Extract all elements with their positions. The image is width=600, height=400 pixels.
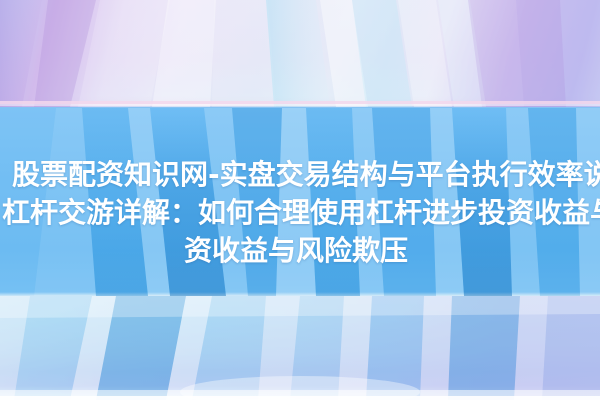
page-title: 股票配资知识网-实盘交易结构与平台执行效率说 杠杆交游详解：如何合理使用杠杆进步… <box>12 156 600 270</box>
headline-line-2: 杠杆交游详解：如何合理使用杠杆进步投资收益与风 <box>2 194 600 232</box>
headline-line-3: 资收益与风险欺压 <box>184 232 600 270</box>
headline-line-1: 股票配资知识网-实盘交易结构与平台执行效率说 <box>12 156 600 194</box>
article-header-banner: 股票配资知识网-实盘交易结构与平台执行效率说 杠杆交游详解：如何合理使用杠杆进步… <box>0 0 600 400</box>
